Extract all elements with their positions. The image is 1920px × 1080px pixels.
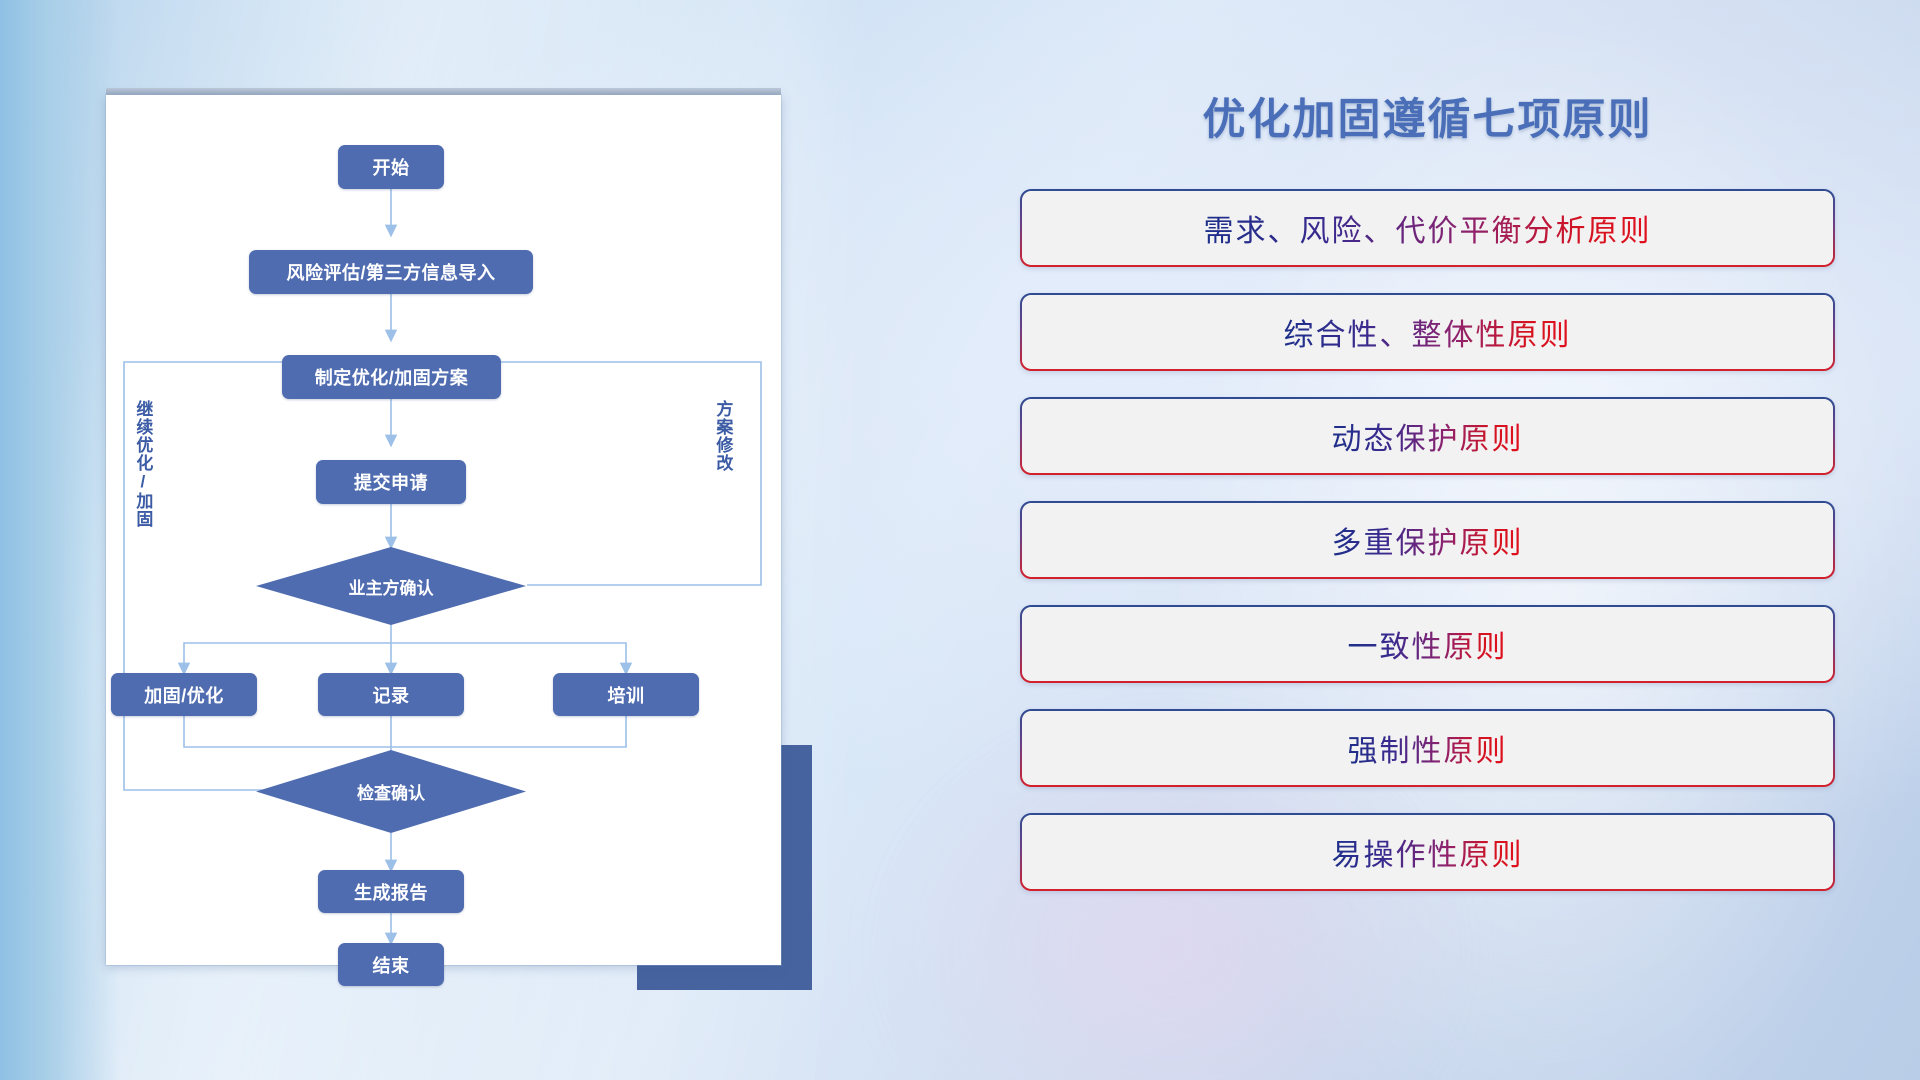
principles-panel: 优化加固遵循七项原则 需求、风险、代价平衡分析原则 综合性、整体性原则 动态保护…: [1020, 85, 1835, 1015]
principle-card-label: 多重保护原则: [1332, 518, 1524, 562]
flow-node-risk-assessment[interactable]: 风险评估/第三方信息导入: [249, 250, 533, 294]
principle-card-label: 动态保护原则: [1332, 414, 1524, 458]
principle-card-inner: 动态保护原则: [1022, 399, 1834, 474]
principle-card[interactable]: 易操作性原则: [1020, 813, 1835, 891]
principles-title: 优化加固遵循七项原则: [1020, 85, 1835, 147]
principle-card[interactable]: 一致性原则: [1020, 605, 1835, 683]
principle-card-inner: 强制性原则: [1022, 711, 1834, 786]
principle-card-label: 需求、风险、代价平衡分析原则: [1204, 206, 1652, 250]
principle-card-inner: 综合性、整体性原则: [1022, 295, 1834, 370]
flowchart-connectors: [106, 95, 781, 965]
principle-card[interactable]: 综合性、整体性原则: [1020, 293, 1835, 371]
principle-card-label: 易操作性原则: [1332, 830, 1524, 874]
principle-card-label: 综合性、整体性原则: [1284, 310, 1572, 354]
flow-node-record[interactable]: 记录: [318, 673, 464, 716]
principle-card-label: 一致性原则: [1348, 622, 1508, 666]
flow-edge-label-plan-revision: 方案修改: [714, 400, 731, 472]
principle-card[interactable]: 多重保护原则: [1020, 501, 1835, 579]
principle-card-inner: 多重保护原则: [1022, 503, 1834, 578]
flowchart-sheet: 开始 风险评估/第三方信息导入 制定优化/加固方案 提交申请 业主方确认 加固/…: [106, 95, 781, 965]
flow-edge-label-continue-optimize: 继续优化/加固: [134, 400, 151, 528]
flow-node-plan[interactable]: 制定优化/加固方案: [282, 355, 501, 399]
flow-node-generate-report[interactable]: 生成报告: [318, 870, 464, 913]
flow-node-end[interactable]: 结束: [338, 943, 444, 986]
background-left-band: [0, 0, 120, 1080]
principle-card[interactable]: 强制性原则: [1020, 709, 1835, 787]
flow-node-training[interactable]: 培训: [553, 673, 699, 716]
principle-card-inner: 需求、风险、代价平衡分析原则: [1022, 191, 1834, 266]
flow-node-submit-application[interactable]: 提交申请: [316, 460, 466, 504]
flow-node-reinforce-optimize[interactable]: 加固/优化: [111, 673, 257, 716]
flow-node-start[interactable]: 开始: [338, 145, 444, 189]
principle-card[interactable]: 需求、风险、代价平衡分析原则: [1020, 189, 1835, 267]
principle-card-inner: 易操作性原则: [1022, 815, 1834, 890]
principle-card-label: 强制性原则: [1348, 726, 1508, 770]
principle-card[interactable]: 动态保护原则: [1020, 397, 1835, 475]
principle-card-inner: 一致性原则: [1022, 607, 1834, 682]
flowchart-canvas: 开始 风险评估/第三方信息导入 制定优化/加固方案 提交申请 业主方确认 加固/…: [106, 95, 781, 965]
